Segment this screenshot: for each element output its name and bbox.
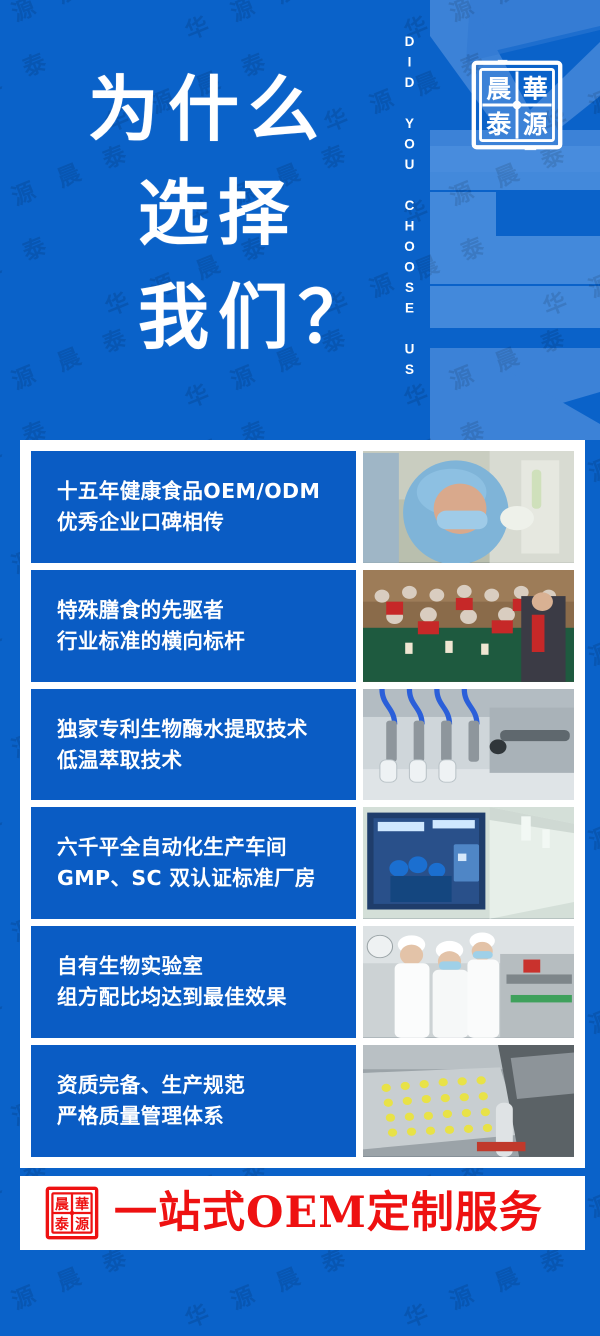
feature-card: 十五年健康食品OEM/ODM优秀企业口碑相传 <box>31 451 574 563</box>
watermark-text: 华 源 晨 泰 <box>318 1328 497 1336</box>
photo-conference-audience <box>363 570 574 682</box>
feature-card: 自有生物实验室组方配比均达到最佳效果 <box>31 926 574 1038</box>
feature-card: 资质完备、生产规范严格质量管理体系 <box>31 1045 574 1157</box>
watermark-text: 华 源 晨 泰 <box>398 1236 577 1335</box>
feature-card: 特殊膳食的先驱者行业标准的横向标杆 <box>31 570 574 682</box>
svg-text:泰: 泰 <box>54 1216 70 1233</box>
watermark-row: 华 源 晨 泰华 源 晨 泰华 源 晨 泰华 源 晨 泰华 源 晨 泰 <box>0 1268 600 1302</box>
svg-text:晨: 晨 <box>486 74 512 103</box>
feature-card: 六千平全自动化生产车间GMP、SC 双认证标准厂房 <box>31 807 574 919</box>
feature-card-text: 资质完备、生产规范严格质量管理体系 <box>31 1045 356 1157</box>
title-line-2: 选择 <box>88 162 378 266</box>
header: 为什么 选择 我们？ DID YOU CHOOSE US 晨 華 泰 源 <box>0 0 600 440</box>
feature-card-frame: 十五年健康食品OEM/ODM优秀企业口碑相传 特殊膳食的先驱者行业标准的横向标杆 <box>20 440 585 1168</box>
watermark-text: 华 源 晨 泰 <box>0 1328 59 1336</box>
feature-card-line: 严格质量管理体系 <box>57 1101 356 1132</box>
feature-card-line: 特殊膳食的先驱者 <box>57 595 356 626</box>
page-title: 为什么 选择 我们？ <box>88 58 378 370</box>
svg-text:泰: 泰 <box>486 110 512 139</box>
svg-text:源: 源 <box>75 1216 89 1233</box>
feature-card-line: 行业标准的横向标杆 <box>57 626 356 657</box>
feature-card-text: 特殊膳食的先驱者行业标准的横向标杆 <box>31 570 356 682</box>
photo-cleanroom-corridor <box>363 807 574 919</box>
photo-lab-technician-inspecting-vial <box>363 451 574 563</box>
vertical-caption: DID YOU CHOOSE US <box>393 34 417 404</box>
feature-card-line: GMP、SC 双认证标准厂房 <box>57 863 356 894</box>
banner-slogan: 一站式OEM定制服务 <box>114 1192 543 1235</box>
feature-card-line: 六千平全自动化生产车间 <box>57 832 356 863</box>
photo-filling-machine-nozzles <box>363 689 574 801</box>
bottom-banner: 晨 華 泰 源 一站式OEM定制服务 <box>20 1176 585 1250</box>
feature-card-line: 低温萃取技术 <box>57 745 356 776</box>
title-line-1: 为什么 <box>88 58 378 162</box>
feature-card-line: 自有生物实验室 <box>57 951 356 982</box>
feature-card-list: 十五年健康食品OEM/ODM优秀企业口碑相传 特殊膳食的先驱者行业标准的横向标杆 <box>31 451 574 1157</box>
svg-text:華: 華 <box>75 1196 89 1213</box>
feature-card-line: 十五年健康食品OEM/ODM <box>57 476 356 507</box>
watermark-text: 华 源 晨 泰 <box>179 1236 358 1335</box>
feature-card-text: 独家专利生物酶水提取技术低温萃取技术 <box>31 689 356 801</box>
svg-text:晨: 晨 <box>55 1197 70 1213</box>
feature-card-line: 组方配比均达到最佳效果 <box>57 982 356 1013</box>
feature-card-text: 六千平全自动化生产车间GMP、SC 双认证标准厂房 <box>31 807 356 919</box>
feature-card-line: 资质完备、生产规范 <box>57 1070 356 1101</box>
svg-text:華: 華 <box>523 74 548 103</box>
title-line-3: 我们？ <box>88 266 378 370</box>
feature-card-line: 独家专利生物酶水提取技术 <box>57 714 356 745</box>
watermark-text: 华 源 晨 泰 <box>0 1236 139 1335</box>
watermark-text: 华 源 晨 泰 <box>99 1328 278 1336</box>
brand-seal-red-icon: 晨 華 泰 源 <box>44 1185 100 1241</box>
svg-text:源: 源 <box>523 110 548 139</box>
brand-seal-icon: 晨 華 泰 源 <box>469 57 565 153</box>
feature-card-line: 优秀企业口碑相传 <box>57 507 356 538</box>
photo-lab-staff-white-coats <box>363 926 574 1038</box>
watermark-text: 华 源 晨 泰 <box>537 1328 600 1336</box>
feature-card: 独家专利生物酶水提取技术低温萃取技术 <box>31 689 574 801</box>
feature-card-text: 自有生物实验室组方配比均达到最佳效果 <box>31 926 356 1038</box>
feature-card-text: 十五年健康食品OEM/ODM优秀企业口碑相传 <box>31 451 356 563</box>
photo-tablet-blister-packing <box>363 1045 574 1157</box>
